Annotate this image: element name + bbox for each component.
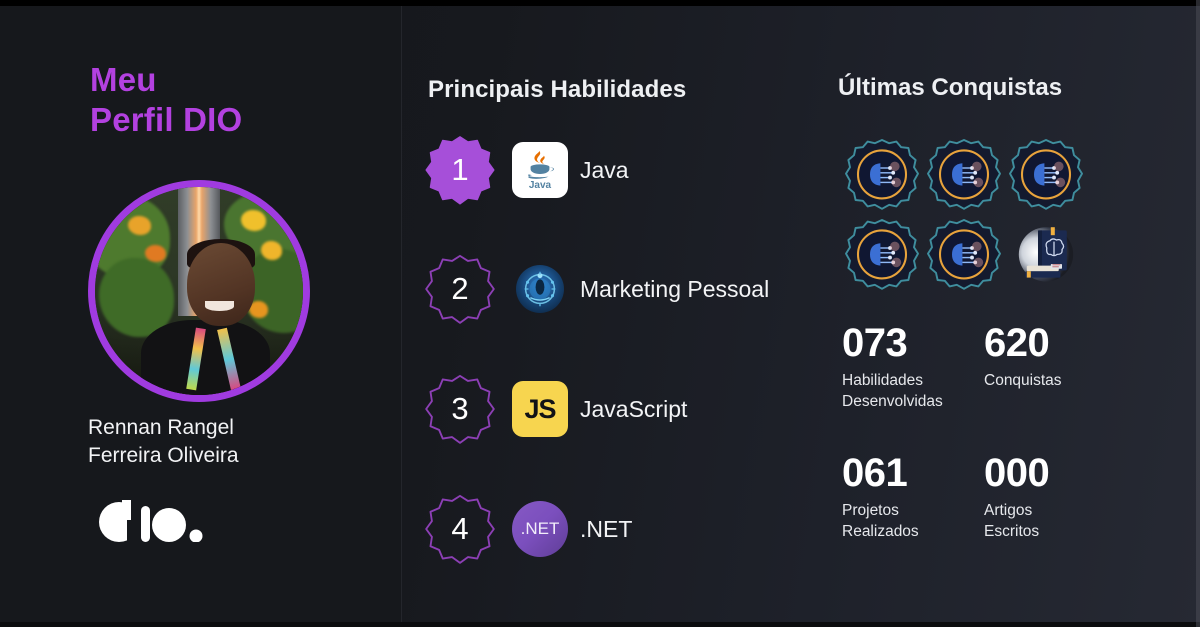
skill-label: Java xyxy=(580,157,629,184)
skill-label: JavaScript xyxy=(580,396,687,423)
stat-label: Projetos Realizados xyxy=(842,500,984,543)
skill-label: .NET xyxy=(580,516,632,543)
rank-badge-3: 3 xyxy=(424,373,496,445)
profile-panel: Meu Perfil DIO Rennan Rang xyxy=(0,0,402,627)
javascript-icon: JS xyxy=(512,381,568,437)
profile-name: Rennan Rangel Ferreira Oliveira xyxy=(88,414,368,470)
java-icon-label: Java xyxy=(529,180,551,191)
ai-brain-circuit-badge[interactable] xyxy=(1006,136,1086,216)
photo-face xyxy=(187,243,256,326)
achievements-section-title: Últimas Conquistas xyxy=(838,74,1062,102)
ai-brain-circuit-badge[interactable] xyxy=(924,216,1004,296)
brain-book-badge[interactable] xyxy=(1006,216,1086,296)
skill-row[interactable]: 4 .NET .NET xyxy=(424,492,632,566)
javascript-icon-label: JS xyxy=(512,381,568,437)
rank-number: 2 xyxy=(451,273,468,306)
photo-flower xyxy=(128,216,151,235)
stat-card: 000 Artigos Escritos xyxy=(984,452,1126,582)
avatar xyxy=(88,180,310,402)
marketing-pessoal-icon xyxy=(512,261,568,317)
stat-card: 620 Conquistas xyxy=(984,322,1126,452)
photo-smile xyxy=(205,301,234,310)
dio-logo xyxy=(97,500,207,542)
ai-brain-circuit-badge[interactable] xyxy=(842,216,922,296)
stat-value: 620 xyxy=(984,322,1126,364)
dotnet-icon: .NET xyxy=(512,501,568,557)
stat-value: 061 xyxy=(842,452,984,494)
stat-card: 061 Projetos Realizados xyxy=(842,452,984,582)
card-right-edge xyxy=(1196,0,1200,627)
stat-label: Habilidades Desenvolvidas xyxy=(842,370,984,413)
rank-badge-1: 1 xyxy=(424,134,496,206)
page-title: Meu Perfil DIO xyxy=(90,60,242,141)
achievement-badge-grid xyxy=(842,136,1086,296)
stat-card: 073 Habilidades Desenvolvidas xyxy=(842,322,984,452)
rank-number: 4 xyxy=(451,513,468,546)
ai-brain-circuit-badge[interactable] xyxy=(924,136,1004,216)
dotnet-icon-label: .NET xyxy=(512,501,568,557)
skills-section-title: Principais Habilidades xyxy=(428,76,686,104)
photo-flower xyxy=(145,245,166,262)
stat-label: Artigos Escritos xyxy=(984,500,1126,543)
achievements-panel: Últimas Conquistas xyxy=(814,0,1200,627)
stat-label: Conquistas xyxy=(984,370,1126,391)
photo-flower xyxy=(241,210,266,231)
skill-row[interactable]: 3 JS JavaScript xyxy=(424,372,687,446)
rank-badge-2: 2 xyxy=(424,253,496,325)
ai-brain-circuit-badge[interactable] xyxy=(842,136,922,216)
dio-profile-card: Meu Perfil DIO Rennan Rang xyxy=(0,0,1200,627)
java-icon: Java xyxy=(512,142,568,198)
stat-value: 000 xyxy=(984,452,1126,494)
stat-value: 073 xyxy=(842,322,984,364)
rank-badge-4: 4 xyxy=(424,493,496,565)
avatar-photo xyxy=(95,187,303,395)
rank-number: 1 xyxy=(451,154,468,187)
skills-panel: Principais Habilidades 1 xyxy=(402,0,814,627)
skill-row[interactable]: 1 Java Java xyxy=(424,133,629,207)
rank-number: 3 xyxy=(451,393,468,426)
stats-grid: 073 Habilidades Desenvolvidas 620 Conqui… xyxy=(842,322,1126,582)
skill-label: Marketing Pessoal xyxy=(580,276,769,303)
photo-flower xyxy=(261,241,282,260)
skill-row[interactable]: 2 M xyxy=(424,252,769,326)
